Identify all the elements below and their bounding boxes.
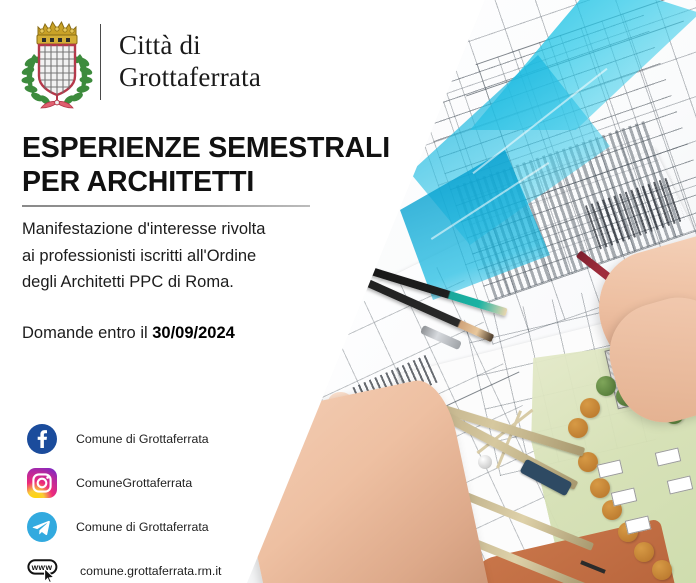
deadline-date: 30/09/2024 <box>152 324 235 342</box>
site-plan-tree <box>580 398 600 418</box>
site-plan-tree <box>652 560 672 580</box>
city-name: Città di Grottaferrata <box>119 30 261 94</box>
svg-text:www: www <box>31 562 53 572</box>
title-divider <box>22 205 310 207</box>
social-label: comune.grottaferrata.rm.it <box>80 564 221 578</box>
social-link-facebook[interactable]: Comune di Grottaferrata <box>27 424 221 454</box>
site-plan-tree <box>590 478 610 498</box>
deadline-prefix: Domande entro il <box>22 324 152 342</box>
poster-canvas: Città di Grottaferrata ESPERIENZE SEMEST… <box>0 0 696 583</box>
telegram-icon[interactable] <box>27 512 57 542</box>
grottaferrata-coat-of-arms-icon <box>18 14 96 110</box>
site-plan-tree <box>634 542 654 562</box>
social-label: Comune di Grottaferrata <box>76 432 209 446</box>
social-link-telegram[interactable]: Comune di Grottaferrata <box>27 512 221 542</box>
compass-hinge <box>478 455 492 469</box>
social-links: Comune di Grottaferrata <box>27 424 221 583</box>
instagram-icon[interactable] <box>27 468 57 498</box>
social-label: ComuneGrottaferrata <box>76 476 192 490</box>
deadline-text: Domande entro il 30/09/2024 <box>22 324 235 343</box>
site-plan-tree <box>596 376 616 396</box>
social-link-website[interactable]: www comune.grottaferrata.rm.it <box>27 556 221 583</box>
brand-divider <box>100 24 101 100</box>
social-label: Comune di Grottaferrata <box>76 520 209 534</box>
site-plan-tree <box>568 418 588 438</box>
website-www-icon[interactable]: www <box>27 558 61 583</box>
page-title: ESPERIENZE SEMESTRALI PER ARCHITETTI <box>22 131 402 200</box>
facebook-icon[interactable] <box>27 424 57 454</box>
brand-lockup: Città di Grottaferrata <box>18 14 261 110</box>
description-text: Manifestazione d'interesse rivolta ai pr… <box>22 216 352 296</box>
social-link-instagram[interactable]: ComuneGrottaferrata <box>27 468 221 498</box>
